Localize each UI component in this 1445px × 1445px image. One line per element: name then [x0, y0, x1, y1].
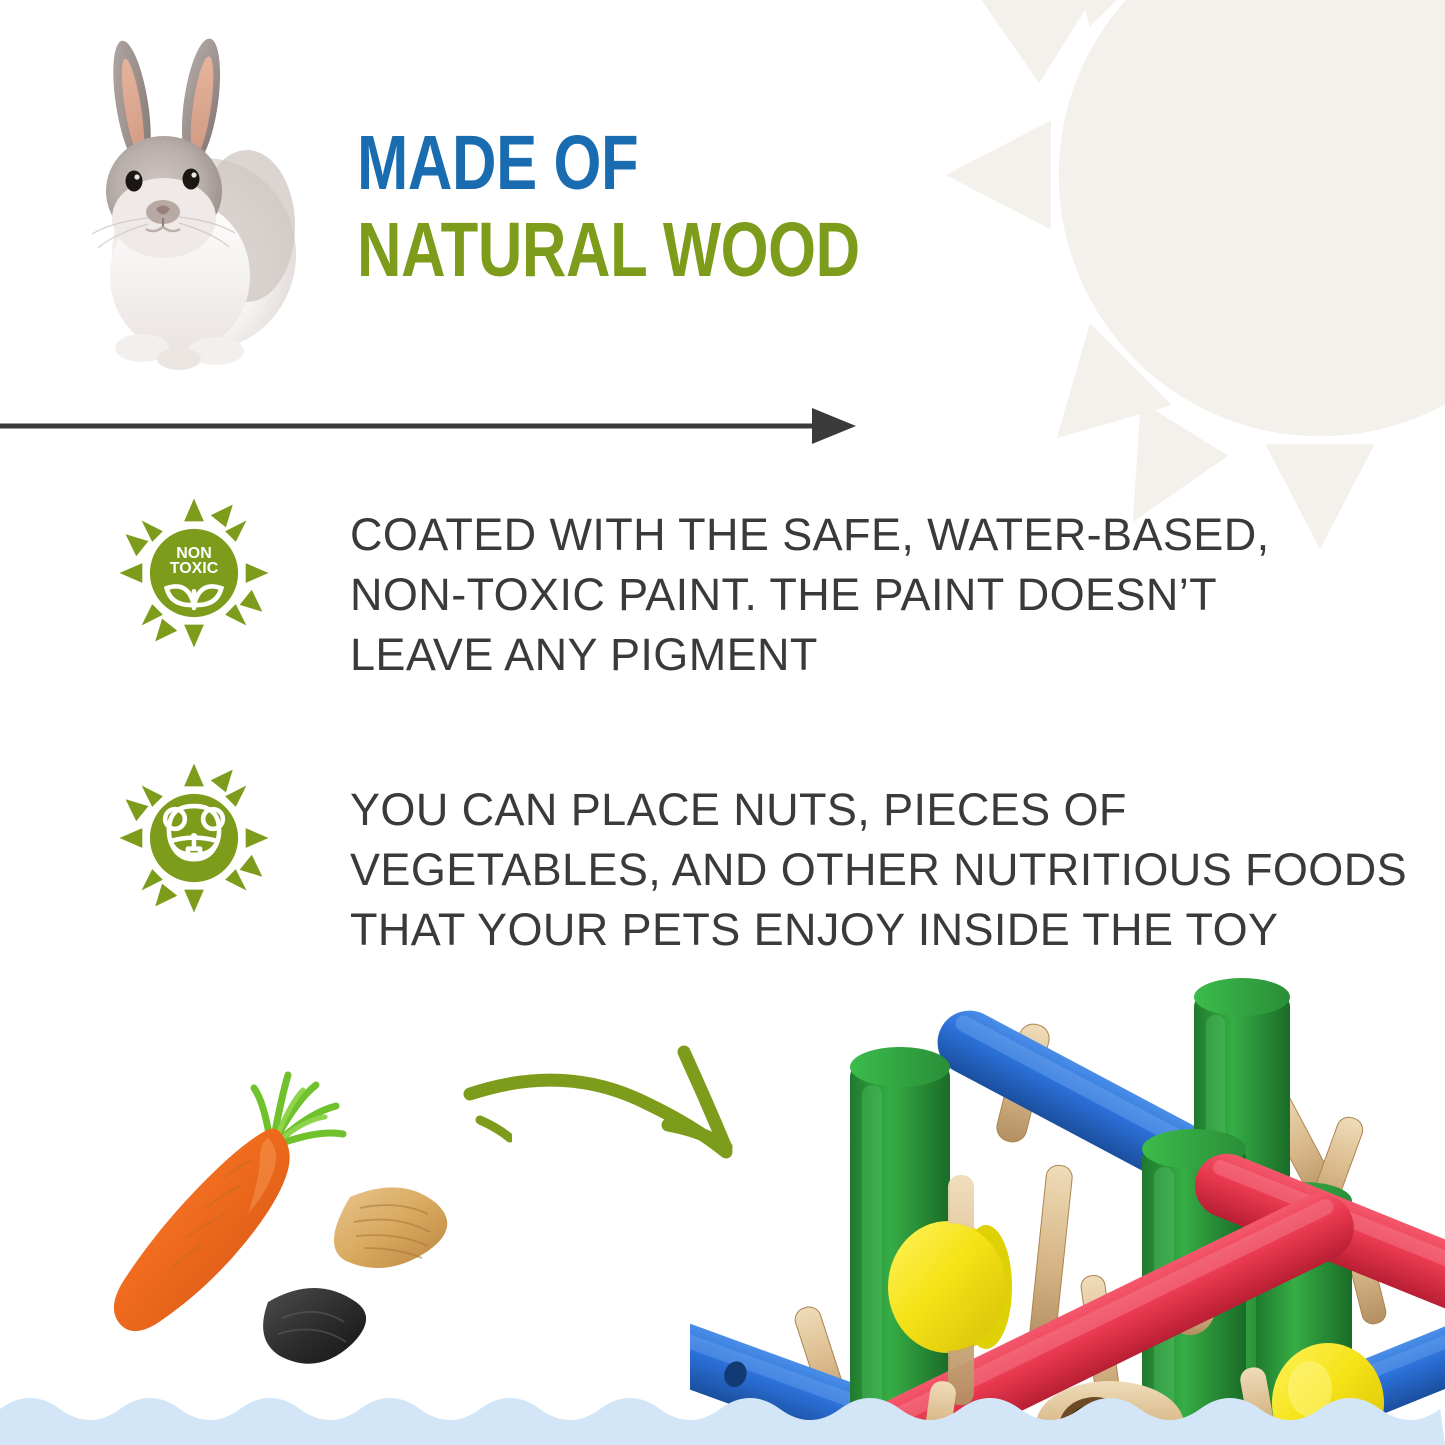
pet-face-sunburst-icon: [118, 762, 270, 914]
infographic-canvas: MADE OF NATURAL WOOD: [0, 0, 1445, 1445]
feature-line: LEAVE ANY PIGMENT: [350, 625, 1270, 685]
feature-row-non-toxic: NON TOXIC COATED WITH THE SAFE, WATER-BA…: [118, 497, 1270, 685]
headline-line-2: NATURAL WOOD: [357, 213, 860, 288]
headline-line-1: MADE OF: [357, 126, 860, 201]
rabbit-photo: [64, 26, 314, 371]
feature-line: THAT YOUR PETS ENJOY INSIDE THE TOY: [350, 900, 1370, 960]
feature-text-non-toxic: COATED WITH THE SAFE, WATER-BASED, NON-T…: [350, 505, 1270, 685]
feature-row-treats: YOU CAN PLACE NUTS, PIECES OF VEGETABLES…: [118, 762, 1370, 960]
badge-label-bottom: TOXIC: [170, 560, 219, 577]
feature-line: YOU CAN PLACE NUTS, PIECES OF: [350, 780, 1370, 840]
feature-line: VEGETABLES, AND OTHER NUTRITIOUS FOODS: [350, 840, 1370, 900]
wave-divider: [0, 1385, 1445, 1445]
feature-line: NON-TOXIC PAINT. THE PAINT DOESN’T: [350, 565, 1270, 625]
page-title: MADE OF NATURAL WOOD: [357, 126, 985, 289]
feature-line: COATED WITH THE SAFE, WATER-BASED,: [350, 505, 1270, 565]
non-toxic-sunburst-icon: NON TOXIC: [118, 497, 270, 649]
sunburst-watermark-icon: [930, 0, 1445, 565]
food-photo: [92, 1042, 512, 1382]
wooden-toy-photo: [690, 975, 1445, 1445]
feature-text-treats: YOU CAN PLACE NUTS, PIECES OF VEGETABLES…: [350, 780, 1370, 960]
divider-arrow-icon: [0, 404, 860, 448]
